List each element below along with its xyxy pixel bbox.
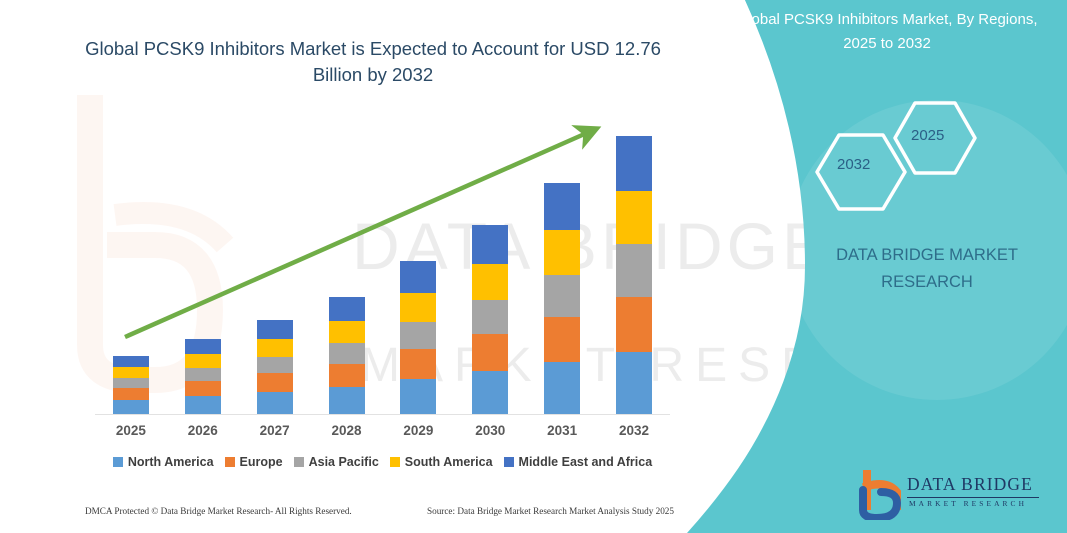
bar-column <box>455 122 526 414</box>
bar-segment <box>472 300 508 334</box>
x-axis-tick-label: 2026 <box>167 423 238 438</box>
bar-segment <box>113 400 149 414</box>
bar-segment <box>257 339 293 357</box>
bar-segment <box>400 322 436 349</box>
x-axis-labels: 20252026202720282029203020312032 <box>95 423 670 438</box>
x-axis-tick-label: 2032 <box>599 423 670 438</box>
chart-plot-area <box>95 120 670 415</box>
stacked-bar[interactable] <box>113 356 149 414</box>
stacked-bar[interactable] <box>544 183 580 414</box>
legend-swatch-icon <box>390 457 400 467</box>
chart-legend: North AmericaEuropeAsia PacificSouth Ame… <box>95 455 670 469</box>
bar-segment <box>400 349 436 379</box>
x-axis-tick-label: 2027 <box>239 423 310 438</box>
bar-segment <box>472 334 508 371</box>
legend-label: South America <box>405 455 493 469</box>
bar-group <box>95 122 670 414</box>
bar-column <box>599 122 670 414</box>
bar-column <box>95 122 166 414</box>
x-axis-tick-label: 2030 <box>455 423 526 438</box>
legend-swatch-icon <box>504 457 514 467</box>
bar-segment <box>616 136 652 191</box>
legend-item[interactable]: Middle East and Africa <box>504 455 653 469</box>
legend-item[interactable]: North America <box>113 455 214 469</box>
x-axis-tick-label: 2029 <box>383 423 454 438</box>
bar-segment <box>257 320 293 339</box>
hexagon-group: 2025 2032 <box>797 95 997 215</box>
stacked-bar[interactable] <box>257 320 293 414</box>
stacked-bar[interactable] <box>400 261 436 414</box>
bar-segment <box>257 373 293 392</box>
bar-segment <box>329 321 365 343</box>
bar-segment <box>113 388 149 400</box>
x-axis-tick-label: 2031 <box>527 423 598 438</box>
bar-segment <box>257 392 293 414</box>
footer-copyright: DMCA Protected © Data Bridge Market Rese… <box>85 506 352 516</box>
bar-segment <box>472 225 508 263</box>
brand-name: DATA BRIDGE MARKET RESEARCH <box>802 242 1052 296</box>
bar-segment <box>544 275 580 317</box>
bar-segment <box>113 367 149 378</box>
logo-divider <box>907 497 1039 498</box>
legend-item[interactable]: Europe <box>225 455 283 469</box>
bar-segment <box>616 297 652 352</box>
x-axis-tick-label: 2025 <box>95 423 166 438</box>
company-logo: DATA BRIDGE MARKET RESEARCH <box>857 470 1047 520</box>
regions-panel: Global PCSK9 Inhibitors Market, By Regio… <box>687 0 1067 533</box>
legend-item[interactable]: Asia Pacific <box>294 455 379 469</box>
hex-label-2032: 2032 <box>837 156 870 173</box>
footer-source: Source: Data Bridge Market Research Mark… <box>427 506 674 516</box>
bar-segment <box>113 378 149 388</box>
bar-segment <box>185 339 221 354</box>
bar-segment <box>400 293 436 322</box>
legend-label: Asia Pacific <box>309 455 379 469</box>
bar-segment <box>329 387 365 414</box>
bar-segment <box>616 352 652 414</box>
legend-swatch-icon <box>113 457 123 467</box>
bar-column <box>167 122 238 414</box>
bar-segment <box>185 381 221 396</box>
bar-segment <box>544 183 580 230</box>
stacked-bar[interactable] <box>185 339 221 414</box>
bar-segment <box>113 356 149 367</box>
logo-subtitle: MARKET RESEARCH <box>909 499 1027 508</box>
logo-title: DATA BRIDGE <box>907 474 1033 495</box>
bar-segment <box>185 396 221 414</box>
bar-segment <box>472 264 508 300</box>
legend-item[interactable]: South America <box>390 455 493 469</box>
bar-segment <box>329 297 365 321</box>
page-title: Global PCSK9 Inhibitors Market is Expect… <box>78 36 668 88</box>
stacked-bar[interactable] <box>329 297 365 414</box>
legend-swatch-icon <box>225 457 235 467</box>
bar-segment <box>472 371 508 414</box>
bar-segment <box>544 230 580 274</box>
x-axis-line <box>95 414 670 415</box>
legend-label: North America <box>128 455 214 469</box>
legend-label: Middle East and Africa <box>519 455 653 469</box>
bar-segment <box>257 357 293 373</box>
bar-column <box>527 122 598 414</box>
x-axis-tick-label: 2028 <box>311 423 382 438</box>
bar-segment <box>329 343 365 364</box>
stacked-bar[interactable] <box>616 136 652 414</box>
regions-panel-title: Global PCSK9 Inhibitors Market, By Regio… <box>727 8 1047 56</box>
chart-panel: DATA BRIDGE MARKET RESEARCH Global PCSK9… <box>0 0 800 533</box>
bar-column <box>311 122 382 414</box>
bar-segment <box>616 191 652 244</box>
bar-column <box>239 122 310 414</box>
legend-label: Europe <box>240 455 283 469</box>
stacked-bar[interactable] <box>472 225 508 414</box>
bar-segment <box>185 368 221 381</box>
bar-column <box>383 122 454 414</box>
hex-label-2025: 2025 <box>911 127 944 144</box>
bar-segment <box>544 317 580 362</box>
bar-segment <box>400 261 436 292</box>
hexagon-shapes-icon <box>797 95 997 215</box>
bar-segment <box>400 379 436 414</box>
bar-segment <box>185 354 221 368</box>
bar-segment <box>544 362 580 414</box>
legend-swatch-icon <box>294 457 304 467</box>
bar-segment <box>329 364 365 387</box>
infographic-canvas: DATA BRIDGE MARKET RESEARCH Global PCSK9… <box>0 0 1067 533</box>
bar-segment <box>616 244 652 296</box>
